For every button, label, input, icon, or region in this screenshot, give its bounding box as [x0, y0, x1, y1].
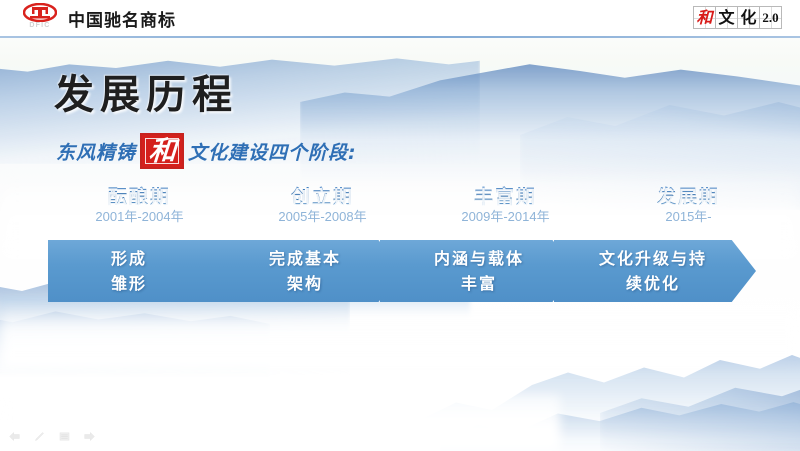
hehua-glyph-version: 2.0 — [762, 11, 778, 24]
hehua-glyph-hua: 化 — [740, 10, 756, 26]
stage-label-1: 酝酿期 2001年-2004年 — [48, 186, 231, 226]
hehua-cell-wen: 文 — [715, 6, 738, 29]
stage-label-2: 创立期 2005年-2008年 — [231, 186, 414, 226]
seal-character: 和 — [148, 138, 177, 165]
menu-icon[interactable] — [58, 430, 71, 443]
dfic-logo-icon: DFIC — [20, 3, 60, 33]
pen-icon[interactable] — [33, 430, 46, 443]
stage-years-2: 2005年-2008年 — [231, 208, 414, 226]
brand-title: 中国驰名商标 — [68, 6, 176, 31]
header-divider — [0, 36, 800, 38]
stage-name-2: 创立期 — [231, 186, 414, 208]
subtitle-prefix: 东风精铸 — [56, 138, 136, 165]
chevron-text-4: 文化升级与持 续优化 — [583, 246, 727, 296]
previous-arrow-icon[interactable] — [8, 430, 21, 443]
stage-years-4: 2015年- — [597, 208, 780, 226]
hehua-cell-hua: 化 — [737, 6, 760, 29]
subtitle: 东风精铸 和 文化建设四个阶段: — [56, 133, 357, 169]
stage-years-1: 2001年-2004年 — [48, 208, 231, 226]
dfic-wordmark: DFIC — [29, 22, 50, 30]
stage-label-4: 发展期 2015年- — [597, 186, 780, 226]
chevron-text-1: 形成 雏形 — [111, 246, 165, 296]
stage-name-1: 酝酿期 — [48, 186, 231, 208]
page-title: 发展历程 — [54, 62, 238, 120]
subtitle-suffix: 文化建设四个阶段: — [188, 138, 357, 165]
stage-name-4: 发展期 — [597, 186, 780, 208]
hehua-glyph-he: 和 — [696, 10, 712, 26]
he-seal-icon: 和 — [140, 133, 184, 169]
header-bar: DFIC 中国驰名商标 — [0, 0, 800, 36]
stage-name-3: 丰富期 — [414, 186, 597, 208]
hehua-cell-version: 2.0 — [759, 6, 782, 29]
stage-chevron-band: 形成 雏形 完成基本 架构 内涵与载体 丰富 文化升级与持 续优化 — [48, 240, 780, 302]
hehua-cell-he: 和 — [693, 6, 716, 29]
chevron-stage-4[interactable]: 文化升级与持 续优化 — [554, 240, 756, 302]
next-arrow-icon[interactable] — [83, 430, 96, 443]
chevron-stage-2[interactable]: 完成基本 架构 — [206, 240, 402, 302]
hehua-glyph-wen: 文 — [718, 10, 734, 26]
chevron-text-2: 完成基本 架构 — [251, 246, 357, 296]
stage-label-row: 酝酿期 2001年-2004年 创立期 2005年-2008年 丰富期 2009… — [48, 186, 780, 226]
stage-years-3: 2009年-2014年 — [414, 208, 597, 226]
mist-band-middle — [0, 300, 800, 370]
chevron-stage-3[interactable]: 内涵与载体 丰富 — [380, 240, 576, 302]
slide-canvas: DFIC 中国驰名商标 和 文 化 2.0 发展历程 东风精铸 和 文化建设四个… — [0, 0, 800, 451]
hehua-logo: 和 文 化 2.0 — [694, 6, 782, 29]
brand-block: DFIC 中国驰名商标 — [20, 3, 176, 33]
slideshow-controls — [8, 430, 96, 443]
chevron-text-3: 内涵与载体 丰富 — [416, 246, 540, 296]
stage-label-3: 丰富期 2009年-2014年 — [414, 186, 597, 226]
chevron-stage-1[interactable]: 形成 雏形 — [48, 240, 228, 302]
